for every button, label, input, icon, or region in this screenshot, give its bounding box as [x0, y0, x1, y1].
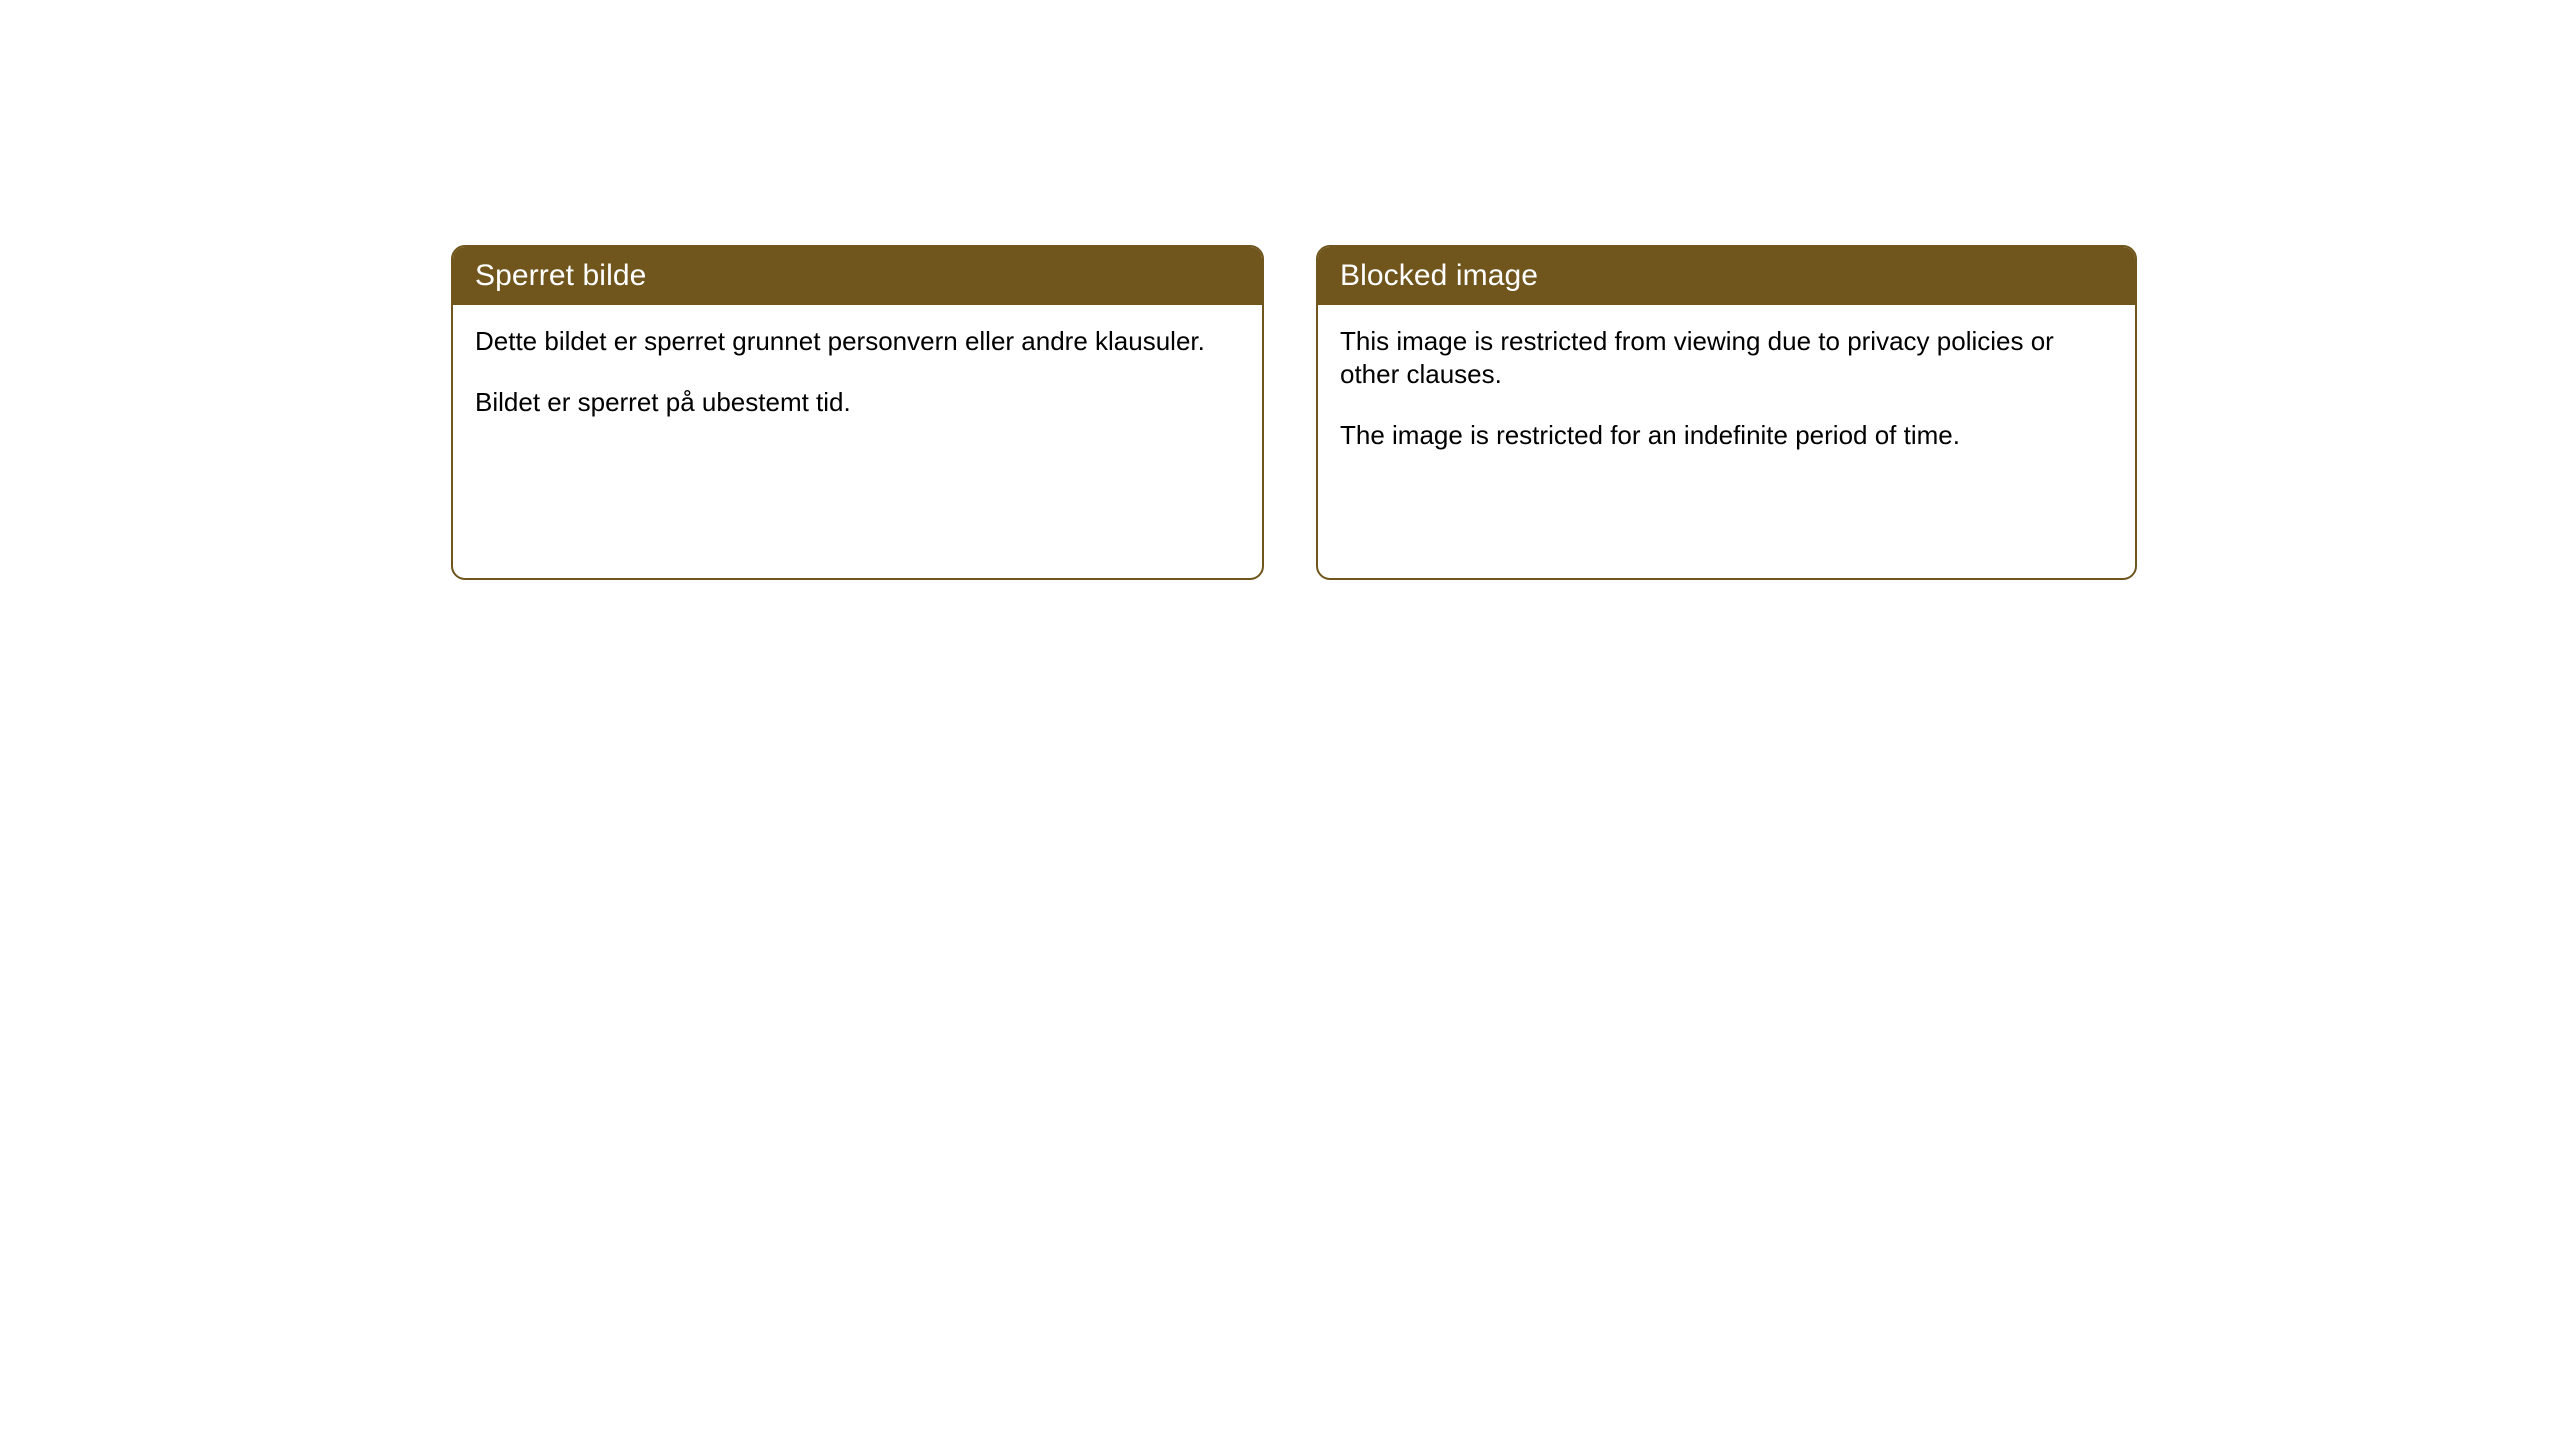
card-title-en: Blocked image: [1318, 247, 2135, 305]
blocked-image-notice-card-no: Sperret bilde Dette bildet er sperret gr…: [451, 245, 1264, 580]
card-paragraph-duration-en: The image is restricted for an indefinit…: [1340, 419, 2113, 452]
card-paragraph-privacy-no: Dette bildet er sperret grunnet personve…: [475, 325, 1240, 358]
blocked-image-notice-card-en: Blocked image This image is restricted f…: [1316, 245, 2137, 580]
card-body-en: This image is restricted from viewing du…: [1318, 305, 2135, 578]
card-body-no: Dette bildet er sperret grunnet personve…: [453, 305, 1262, 578]
card-paragraph-duration-no: Bildet er sperret på ubestemt tid.: [475, 386, 1240, 419]
card-title-no: Sperret bilde: [453, 247, 1262, 305]
card-paragraph-privacy-en: This image is restricted from viewing du…: [1340, 325, 2113, 391]
